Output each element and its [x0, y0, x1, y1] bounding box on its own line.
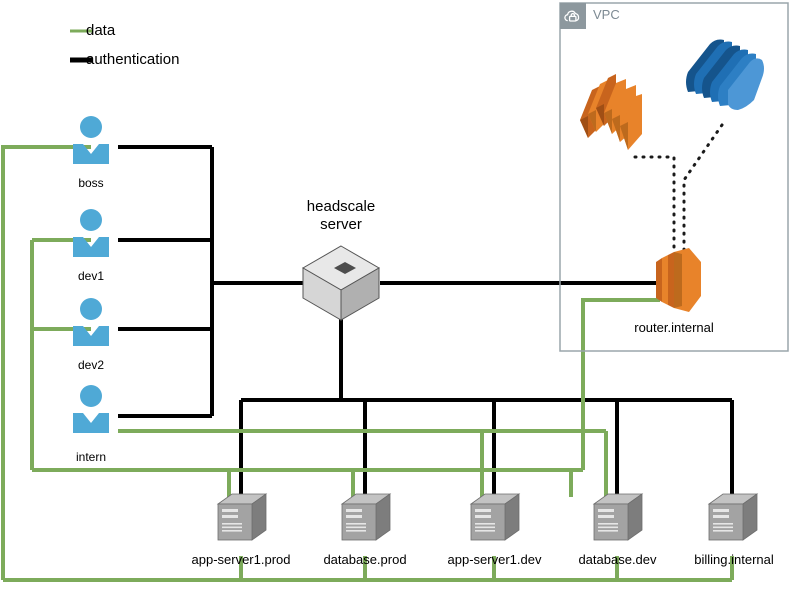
server-icon-database-prod[interactable]: [340, 492, 392, 544]
server-icon-app-server1-prod[interactable]: [216, 492, 268, 544]
diagram-canvas: VPC data authentication boss dev1 dev2: [0, 0, 792, 593]
user-head-icon: [80, 298, 102, 320]
server-icon-billing-internal[interactable]: [707, 492, 759, 544]
user-body-icon: [73, 144, 109, 164]
user-body-icon: [73, 237, 109, 257]
user-body-icon: [73, 413, 109, 433]
user-head-icon: [80, 209, 102, 231]
user-head-icon: [80, 116, 102, 138]
user-icon-dev1[interactable]: [73, 209, 109, 257]
user-head-icon: [80, 385, 102, 407]
user-icon-boss[interactable]: [73, 116, 109, 164]
aws-rds-stack-icon[interactable]: [684, 38, 766, 128]
user-body-icon: [73, 326, 109, 346]
server-icon-app-server1-dev[interactable]: [469, 492, 521, 544]
aws-ec2-stack-icon[interactable]: [576, 68, 644, 160]
router-internal-icon[interactable]: [651, 248, 705, 314]
user-icon-dev2[interactable]: [73, 298, 109, 346]
user-icon-intern[interactable]: [73, 385, 109, 433]
server-icon-database-dev[interactable]: [592, 492, 644, 544]
headscale-server-icon[interactable]: [301, 244, 381, 322]
